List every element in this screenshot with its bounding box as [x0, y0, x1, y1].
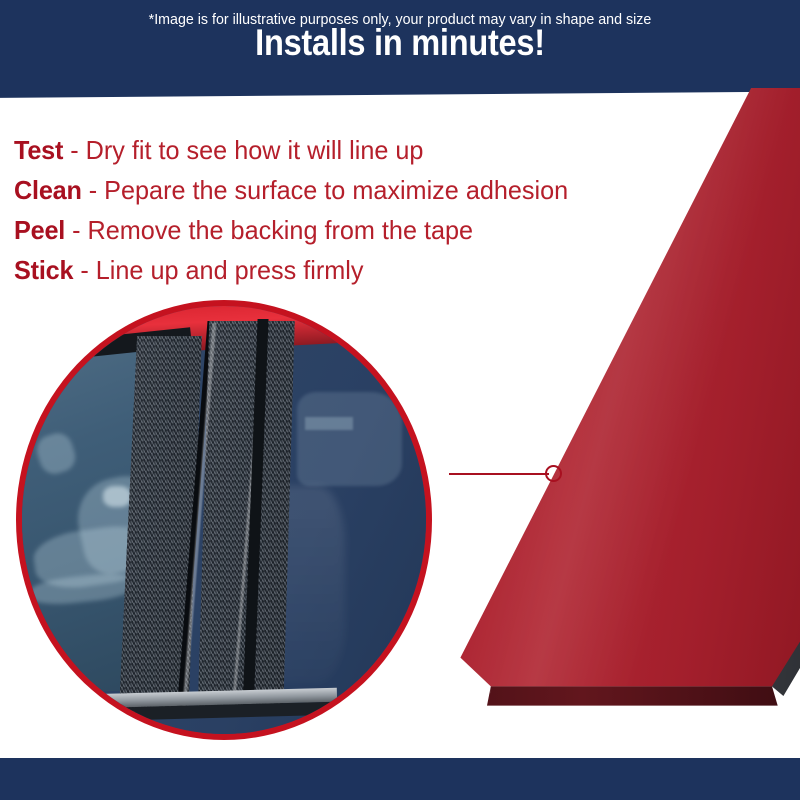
rear-glass-reflection: [297, 392, 402, 486]
page-title: Installs in minutes!: [48, 22, 752, 64]
rear-glass-highlight: [305, 417, 353, 430]
step-keyword: Test: [14, 135, 63, 165]
step-description: Dry fit to see how it will line up: [86, 135, 424, 165]
step-separator: -: [72, 215, 80, 245]
step-separator: -: [89, 175, 97, 205]
step-item-stick: Stick - Line up and press firmly: [14, 250, 674, 290]
step-item-peel: Peel - Remove the backing from the tape: [14, 210, 674, 250]
interior-handle-highlight: [103, 486, 131, 507]
step-description: Line up and press firmly: [96, 255, 364, 285]
step-item-test: Test - Dry fit to see how it will line u…: [14, 130, 674, 170]
step-description: Remove the backing from the tape: [88, 215, 474, 245]
photo-content: [22, 306, 426, 734]
step-keyword: Clean: [14, 175, 82, 205]
step-keyword: Peel: [14, 215, 65, 245]
disclaimer-text: *Image is for illustrative purposes only…: [20, 11, 780, 28]
footer-band: [0, 758, 800, 800]
step-separator: -: [70, 135, 78, 165]
infographic-canvas: Installs in minutes! Test - Dry fit to s…: [0, 0, 800, 800]
step-separator: -: [80, 255, 88, 285]
step-keyword: Stick: [14, 255, 73, 285]
installed-product-photo-circle: [16, 300, 432, 740]
callout-end-circle-icon: [545, 465, 562, 482]
step-description: Pepare the surface to maximize adhesion: [104, 175, 568, 205]
callout-leader-line: [449, 473, 549, 475]
step-item-clean: Clean - Pepare the surface to maximize a…: [14, 170, 674, 210]
installation-steps-list: Test - Dry fit to see how it will line u…: [14, 130, 694, 290]
